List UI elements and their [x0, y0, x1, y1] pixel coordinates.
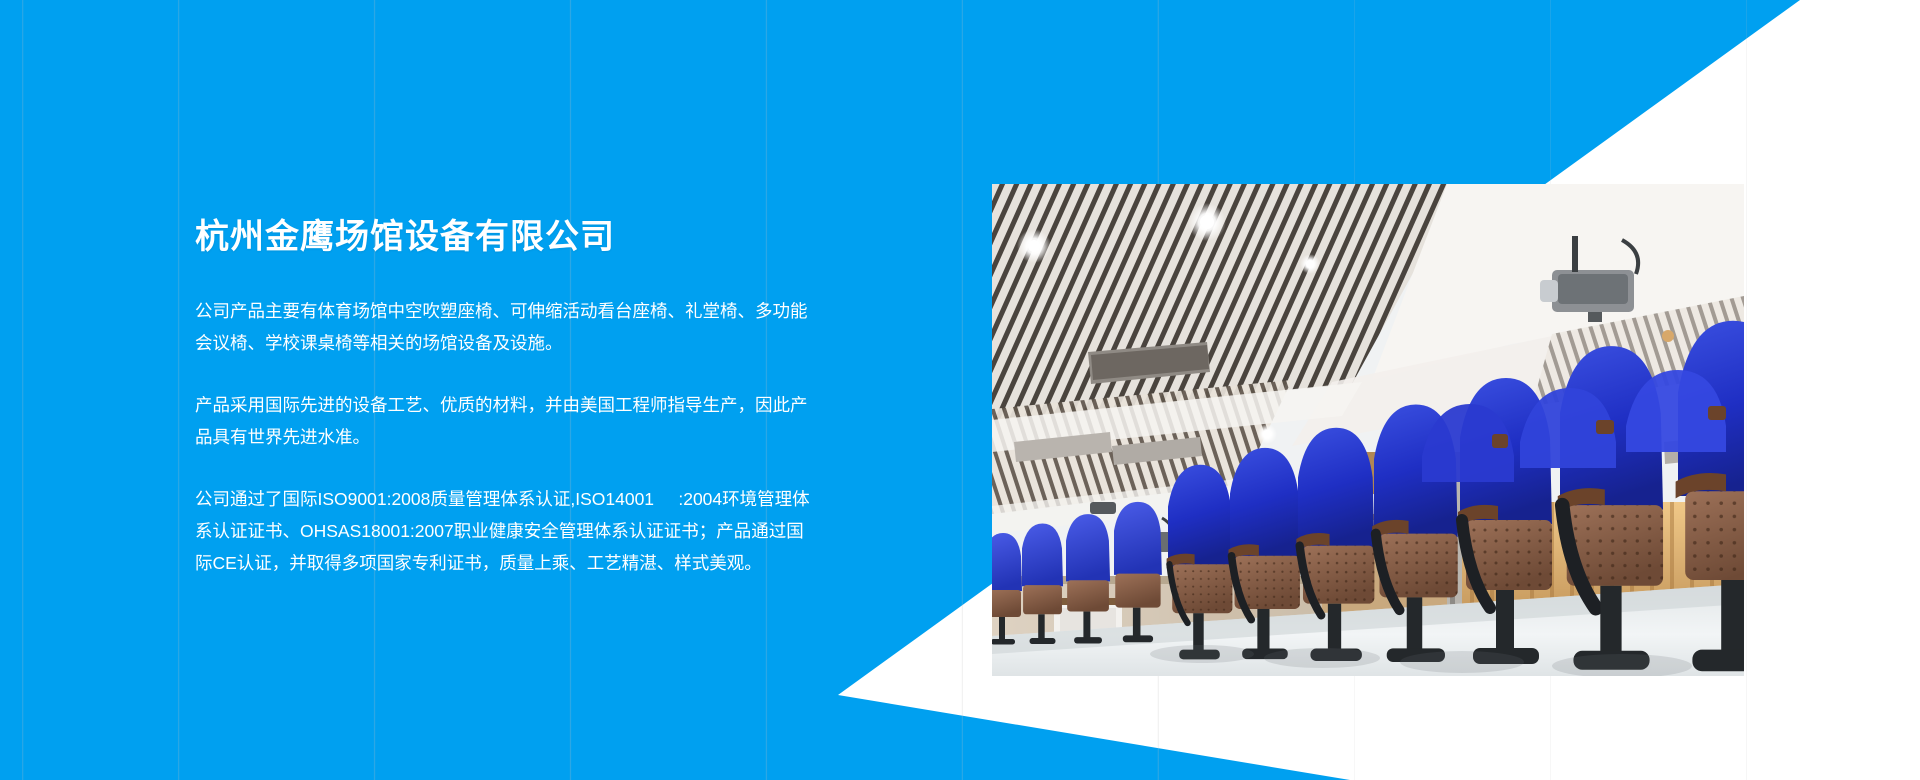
auditorium-seating-illustration — [992, 184, 1744, 676]
page-title: 杭州金鹰场馆设备有限公司 — [195, 216, 815, 259]
company-paragraph-certifications: 公司通过了国际ISO9001:2008质量管理体系认证,ISO14001 :20… — [195, 483, 815, 579]
auditorium-seating-photo — [992, 184, 1744, 676]
company-paragraph-products: 公司产品主要有体育场馆中空吹塑座椅、可伸缩活动看台座椅、礼堂椅、多功能会议椅、学… — [195, 295, 815, 359]
company-info-block: 杭州金鹰场馆设备有限公司 公司产品主要有体育场馆中空吹塑座椅、可伸缩活动看台座椅… — [195, 216, 815, 579]
hero-banner: 杭州金鹰场馆设备有限公司 公司产品主要有体育场馆中空吹塑座椅、可伸缩活动看台座椅… — [0, 0, 1920, 780]
company-paragraph-quality: 产品采用国际先进的设备工艺、优质的材料，并由美国工程师指导生产，因此产品具有世界… — [195, 389, 815, 453]
